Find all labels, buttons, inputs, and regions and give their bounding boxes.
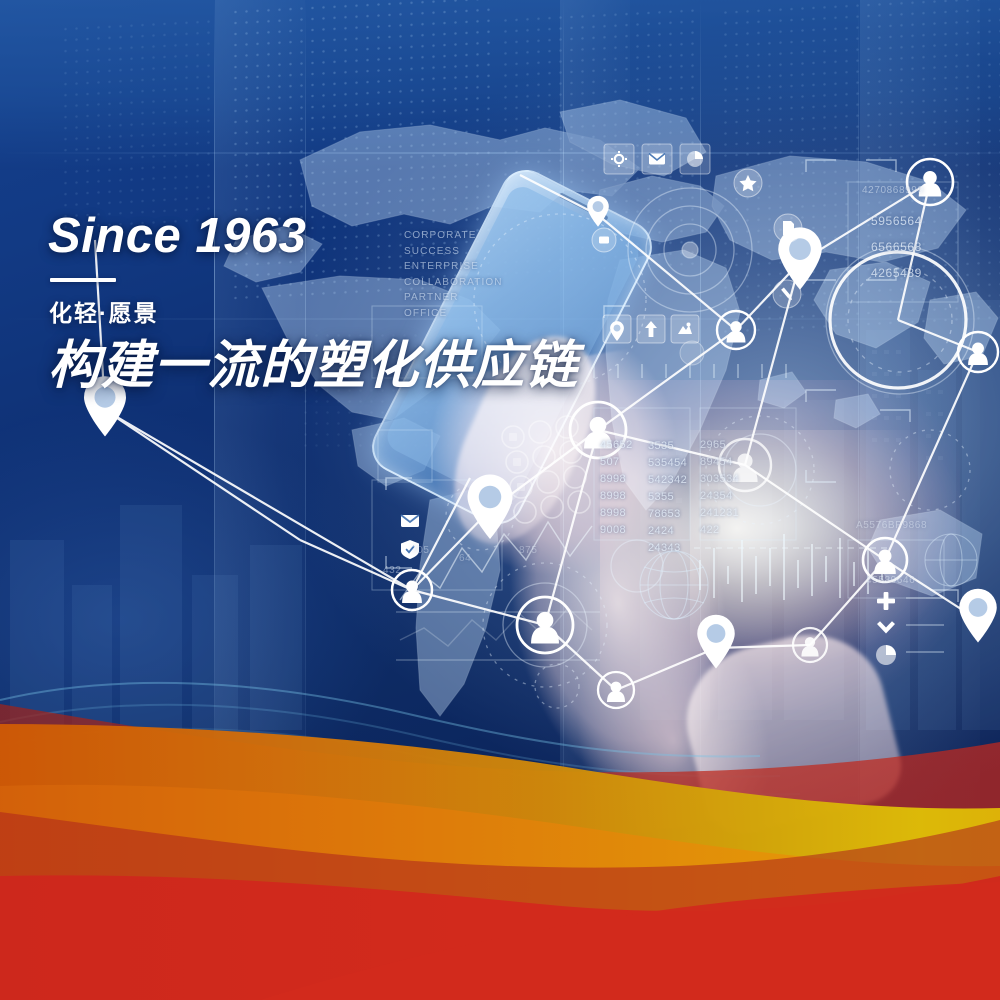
data-value: 507 — [600, 454, 633, 471]
data-value: 64 — [459, 553, 471, 564]
data-value: 2965 — [700, 437, 739, 454]
data-column-right: 2965 89454 303534 24354 241231 422 — [700, 437, 739, 539]
data-value: 3535 — [648, 438, 687, 455]
data-value: 78653 — [648, 506, 687, 523]
data-value: 9008 — [600, 522, 633, 539]
data-value: A5576BP9868 — [856, 520, 927, 531]
data-column-mid: 3535 535454 542342 5355 78653 2424 24343 — [648, 438, 687, 557]
data-value: 8998 — [600, 488, 633, 505]
banner-hero: CORPORATE SUCCESS ENTERPRISE COLLABORATI… — [0, 0, 1000, 1000]
data-column-left: 45652 507 8998 8998 8998 9008 — [600, 437, 633, 539]
data-value: 705 — [411, 545, 430, 556]
data-value: 241231 — [700, 505, 739, 522]
data-value: 303534 — [700, 471, 739, 488]
data-value: 2424 — [648, 523, 687, 540]
data-value: 6566568 — [871, 240, 922, 254]
data-value: 422 — [700, 522, 739, 539]
data-value: 24343 — [648, 540, 687, 557]
data-value: 5355 — [648, 489, 687, 506]
data-value: 8998 — [600, 471, 633, 488]
hero-copy-block: Since 1963 化轻·愿景 构建一流的塑化供应链 — [48, 212, 578, 394]
data-value: 432 — [383, 565, 402, 576]
data-value: 875 — [519, 545, 538, 556]
data-value: 535454 — [648, 455, 687, 472]
data-value: 4265489 — [871, 266, 922, 280]
eyebrow-text: Since 1963 — [48, 212, 578, 261]
data-value: 45589646 — [866, 575, 915, 586]
data-value: 5956564 — [871, 214, 922, 228]
data-value: 45652 — [600, 437, 633, 454]
data-value: 4270868999 — [862, 185, 924, 196]
data-value: 8998 — [600, 505, 633, 522]
bottom-wave-decoration — [0, 680, 1000, 1000]
headline-text: 构建一流的塑化供应链 — [48, 338, 578, 394]
divider-rule — [50, 278, 116, 282]
data-value: 542342 — [648, 472, 687, 489]
data-value: 24354 — [700, 488, 739, 505]
data-value: 89454 — [700, 454, 739, 471]
subtitle-text: 化轻·愿景 — [49, 294, 578, 328]
